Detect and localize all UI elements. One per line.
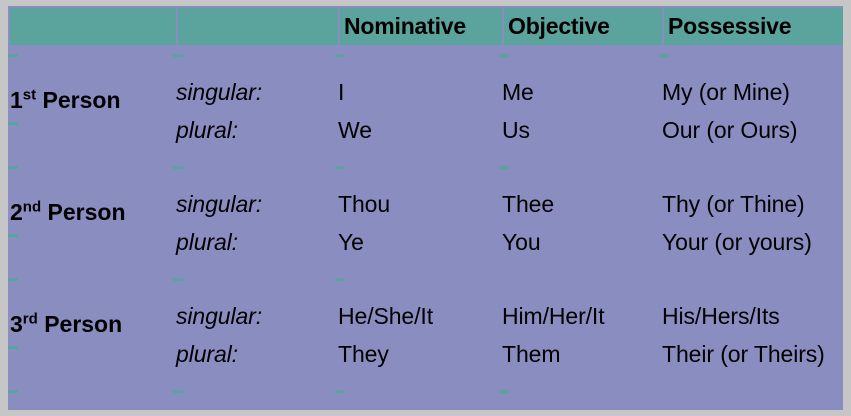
cell-objective-plural: Them (502, 341, 560, 368)
cell-nominative-singular: Thou (338, 191, 390, 218)
cell-nominative-plural: We (338, 117, 372, 144)
table-row-second-person: 2nd Person singular: Thou Thee Thy (or T… (8, 169, 843, 281)
number-label-plural: plural: (176, 229, 238, 256)
header-cell-possessive: Possessive (662, 6, 843, 45)
cell-nominative-singular: He/She/It (338, 303, 433, 330)
number-label-singular: singular: (176, 303, 262, 330)
pronoun-table: Nominative Objective Possessive (8, 6, 843, 410)
cell-possessive-singular: His/Hers/Its (662, 303, 780, 330)
table-row-first-person: 1st Person singular: I Me My (or Mine) p… (8, 57, 843, 169)
cell-nominative-plural: They (338, 341, 389, 368)
cell-possessive-plural: Our (or Ours) (662, 117, 797, 144)
cell-objective-plural: You (502, 229, 541, 256)
subrow-singular: singular: Thou Thee Thy (or Thine) (8, 191, 843, 229)
cell-objective-singular: Me (502, 79, 534, 106)
subrow-singular: singular: I Me My (or Mine) (8, 79, 843, 117)
number-label-singular: singular: (176, 79, 262, 106)
cell-possessive-singular: My (or Mine) (662, 79, 790, 106)
subrow-plural: plural: Ye You Your (or yours) (8, 229, 843, 267)
table-header-row: Nominative Objective Possessive (8, 6, 843, 45)
cell-possessive-plural: Their (or Theirs) (662, 341, 825, 368)
cell-objective-singular: Him/Her/It (502, 303, 605, 330)
cell-nominative-singular: I (338, 79, 344, 106)
header-cell-number (176, 6, 338, 45)
number-label-singular: singular: (176, 191, 262, 218)
header-label-objective: Objective (504, 13, 610, 40)
number-label-plural: plural: (176, 341, 238, 368)
table-row-third-person: 3rd Person singular: He/She/It Him/Her/I… (8, 281, 843, 393)
cell-nominative-plural: Ye (338, 229, 364, 256)
header-cell-person (8, 6, 176, 45)
header-cell-objective: Objective (502, 6, 662, 45)
cell-possessive-plural: Your (or yours) (662, 229, 812, 256)
header-label-possessive: Possessive (664, 13, 791, 40)
header-cell-nominative: Nominative (338, 6, 502, 45)
cell-objective-plural: Us (502, 117, 530, 144)
table-body: 1st Person singular: I Me My (or Mine) p… (8, 45, 843, 410)
subrow-plural: plural: We Us Our (or Ours) (8, 117, 843, 155)
number-label-plural: plural: (176, 117, 238, 144)
header-label-nominative: Nominative (340, 13, 466, 40)
cell-possessive-singular: Thy (or Thine) (662, 191, 805, 218)
subrow-plural: plural: They Them Their (or Theirs) (8, 341, 843, 379)
cell-objective-singular: Thee (502, 191, 554, 218)
subrow-singular: singular: He/She/It Him/Her/It His/Hers/… (8, 303, 843, 341)
